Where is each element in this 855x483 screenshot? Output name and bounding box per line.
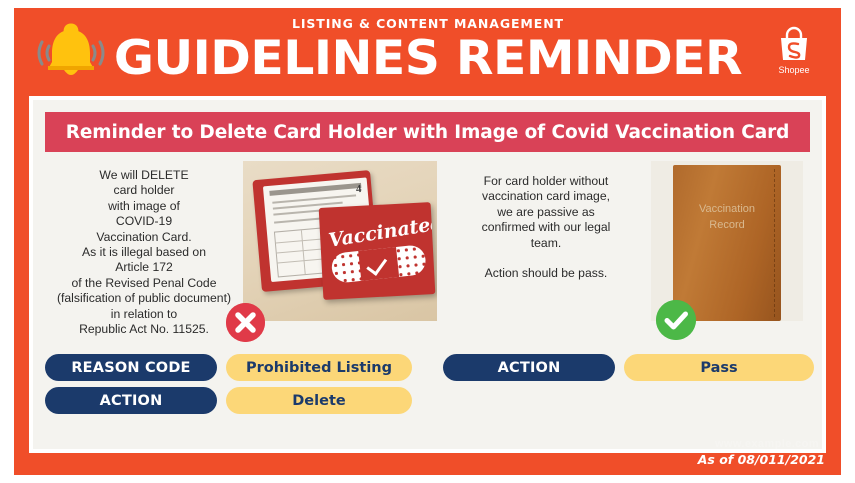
actions-region: REASON CODE Prohibited Listing ACTION De… <box>45 354 810 432</box>
delete-action-group: REASON CODE Prohibited Listing ACTION De… <box>45 354 412 420</box>
reason-code-value[interactable]: Prohibited Listing <box>226 354 412 381</box>
shopee-logo: Shopee <box>765 26 823 75</box>
panels-region: We will DELETE card holder with image of… <box>45 158 810 350</box>
record-book-title: Vaccination Record <box>673 201 781 233</box>
action-row: ACTION Delete <box>45 387 412 414</box>
page-title: GUIDELINES REMINDER <box>106 32 751 86</box>
header-text-block: LISTING & CONTENT MANAGEMENT GUIDELINES … <box>118 16 738 86</box>
header-subtitle: LISTING & CONTENT MANAGEMENT <box>118 16 738 32</box>
pass-action-label[interactable]: ACTION <box>443 354 615 381</box>
footer-date-stamp: As of 08/011/2021 <box>698 452 825 467</box>
x-mark-icon <box>226 303 265 342</box>
vaccination-record-photo: Vaccination Record <box>651 161 803 321</box>
pass-action-value[interactable]: Pass <box>624 354 814 381</box>
shopee-bag-icon <box>775 26 813 64</box>
action-row: ACTION Pass <box>443 354 814 381</box>
record-book: Vaccination Record <box>673 165 781 321</box>
delete-action-label[interactable]: ACTION <box>45 387 217 414</box>
poster-header: LISTING & CONTENT MANAGEMENT GUIDELINES … <box>14 8 841 96</box>
reason-code-label[interactable]: REASON CODE <box>45 354 217 381</box>
pass-panel-text: For card holder without vaccination card… <box>451 174 641 282</box>
check-mark-icon <box>656 300 696 340</box>
pass-action-group: ACTION Pass <box>443 354 814 387</box>
covid-card-photo: 4 <box>243 161 437 321</box>
delete-action-value[interactable]: Delete <box>226 387 412 414</box>
bandaid-icon <box>330 244 427 284</box>
shopee-brand-label: Shopee <box>765 65 823 75</box>
reminder-banner-title: Reminder to Delete Card Holder with Imag… <box>66 122 790 143</box>
footer-watermark: www.example.com <box>715 438 819 450</box>
action-row: REASON CODE Prohibited Listing <box>45 354 412 381</box>
panel-pass: For card holder without vaccination card… <box>443 158 810 350</box>
book-spine <box>774 169 775 317</box>
paper-card-corner-mark: 4 <box>355 183 362 195</box>
vaccinated-sticker-card: Vaccinated! <box>319 202 436 300</box>
poster-frame: LISTING & CONTENT MANAGEMENT GUIDELINES … <box>14 8 841 475</box>
reminder-banner: Reminder to Delete Card Holder with Imag… <box>45 112 810 152</box>
delete-panel-text: We will DELETE card holder with image of… <box>45 168 243 337</box>
paper-card-header <box>269 183 361 196</box>
content-card: Reminder to Delete Card Holder with Imag… <box>29 96 826 453</box>
panel-delete: We will DELETE card holder with image of… <box>45 158 437 350</box>
